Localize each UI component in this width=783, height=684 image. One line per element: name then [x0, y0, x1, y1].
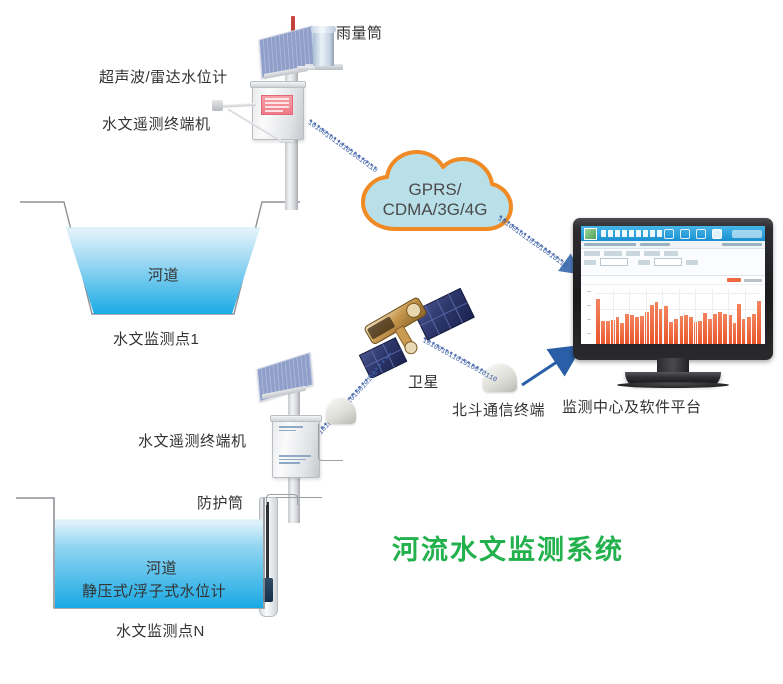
ground-line-bottom — [276, 497, 322, 498]
cabinet-brand-text — [279, 426, 303, 433]
chart-bar — [713, 314, 717, 344]
beidou-antenna-station — [326, 398, 356, 424]
app-breadcrumb-bar — [581, 241, 765, 249]
filter-tab[interactable] — [584, 251, 600, 256]
rainfall-bar-chart — [581, 284, 765, 344]
chart-bar — [689, 317, 693, 344]
chart-bar — [664, 306, 668, 344]
chart-legend — [581, 276, 765, 284]
chart-bar — [669, 322, 673, 344]
grid-line-v — [662, 289, 663, 344]
legend-color-swatch — [727, 278, 741, 282]
chart-bar — [606, 321, 610, 344]
app-user-chip[interactable] — [732, 230, 762, 238]
chart-bar — [601, 321, 605, 344]
rtu-cabinet-bottom — [272, 418, 320, 478]
filter-tab[interactable] — [604, 251, 622, 256]
legend-series-label — [744, 279, 762, 282]
filter-row-inputs — [584, 258, 762, 266]
grid-line-v — [695, 289, 696, 344]
chart-bar — [733, 323, 737, 344]
filter-select-station[interactable] — [600, 258, 628, 266]
rtu-top-label: 水文遥测终端机 — [102, 113, 211, 134]
rain-gauge-cap — [311, 26, 336, 33]
grid-line-v — [712, 289, 713, 344]
chart-bar — [718, 312, 722, 344]
chart-bar — [650, 305, 654, 344]
channel-bottom-label: 河道 — [146, 557, 177, 578]
pole-brace-top — [280, 140, 294, 143]
filter-field-label — [638, 260, 650, 265]
y-tick — [587, 319, 591, 320]
chart-bar — [684, 315, 688, 344]
monitoring-center-monitor — [573, 218, 773, 390]
station-bottom-label: 水文监测点N — [116, 620, 205, 641]
grid-line-v — [629, 289, 630, 344]
grid-line-v — [728, 289, 729, 344]
chart-bar — [747, 317, 751, 344]
monitor-bezel — [573, 218, 773, 360]
satellite-label: 卫星 — [408, 371, 439, 392]
beidou-antenna-dome — [483, 364, 517, 392]
level-meter-top-label: 超声波/雷达水位计 — [99, 66, 228, 87]
filter-tab[interactable] — [644, 251, 660, 256]
chart-bar — [703, 313, 707, 344]
chart-bar — [698, 321, 702, 344]
monitor-foot-shadow — [617, 382, 729, 388]
toolbar-icon-chart[interactable] — [712, 229, 722, 239]
cabinet-roof-top — [250, 81, 306, 88]
toolbar-icon-1[interactable] — [664, 229, 674, 239]
chart-bar — [620, 323, 624, 344]
app-logo-icon — [584, 228, 597, 240]
filter-row-tabs — [584, 251, 762, 256]
chart-bar — [635, 317, 639, 344]
chart-bar — [630, 315, 634, 344]
filter-query-button[interactable] — [686, 260, 698, 265]
app-title-text — [601, 230, 663, 237]
satellite-graphic — [350, 288, 480, 378]
filter-select-date[interactable] — [654, 258, 682, 266]
gprs-cloud: GPRS/ CDMA/3G/4G — [355, 143, 515, 245]
app-toolbar-icons — [664, 229, 762, 239]
diagram-title: 河流水文监测系统 — [392, 528, 624, 567]
breadcrumb-seg — [584, 243, 636, 246]
filter-tab[interactable] — [664, 251, 678, 256]
chart-bar — [723, 314, 727, 344]
grid-line-v — [646, 289, 647, 344]
chart-bar — [757, 301, 761, 344]
chart-bar — [596, 299, 600, 344]
level-meter-bottom-label: 静压式/浮子式水位计 — [82, 580, 226, 601]
filter-field-label — [584, 260, 596, 265]
y-tick — [587, 333, 591, 334]
breadcrumb-seg — [722, 243, 762, 246]
station-top-label: 水文监测点1 — [113, 328, 199, 349]
chart-bar — [674, 319, 678, 344]
app-header-bar — [581, 226, 765, 241]
rain-gauge-label: 雨量筒 — [336, 22, 383, 43]
monitoring-center-label: 监测中心及软件平台 — [562, 396, 702, 417]
ultrasonic-radar-sensor — [212, 100, 223, 111]
rtu-bottom-label: 水文遥测终端机 — [138, 430, 247, 451]
toolbar-icon-3[interactable] — [696, 229, 706, 239]
rtu-cabinet-top — [252, 84, 304, 140]
app-filter-form — [581, 249, 765, 276]
chart-bar — [640, 316, 644, 344]
rain-gauge-body — [313, 30, 334, 66]
chart-y-axis — [581, 289, 595, 344]
grid-line-v — [679, 289, 680, 344]
cabinet-red-label — [261, 95, 293, 115]
antenna-cable — [318, 424, 343, 461]
cabinet-roof-bottom — [270, 415, 322, 422]
grid-line-v — [745, 289, 746, 344]
monitor-screen — [581, 226, 765, 344]
channel-top-label: 河道 — [148, 264, 179, 285]
beidou-terminal-label: 北斗通信终端 — [452, 399, 545, 420]
rain-gauge-arm — [297, 66, 315, 70]
chart-bar — [616, 317, 620, 344]
cabinet-info-text — [279, 455, 311, 466]
chart-bar — [737, 304, 741, 344]
y-tick — [587, 305, 591, 306]
y-tick — [587, 291, 591, 292]
chart-bar — [752, 314, 756, 344]
breadcrumb-seg — [640, 243, 670, 246]
toolbar-icon-2[interactable] — [680, 229, 690, 239]
diagram-canvas: 河道 水文监测点1 雨量筒 超声波/雷达水位计 水文遥测终端机 GPRS/ CD… — [0, 0, 783, 684]
chart-bar — [655, 302, 659, 344]
filter-tab[interactable] — [626, 251, 640, 256]
grid-line-v — [613, 289, 614, 344]
